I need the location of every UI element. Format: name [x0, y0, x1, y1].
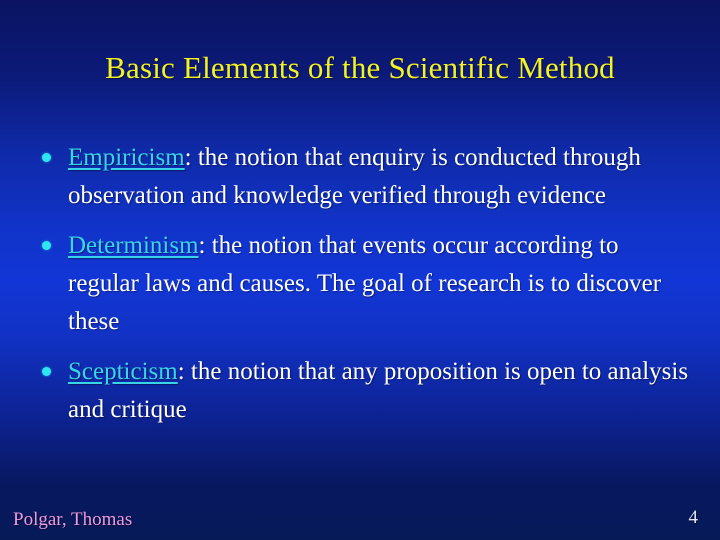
bullet-term-empiricism: Empiricism	[68, 144, 185, 171]
bullet-dot-icon	[42, 367, 51, 376]
bullet-term-scepticism: Scepticism	[68, 358, 178, 385]
bullet-list: Empiricism: the notion that enquiry is c…	[34, 139, 694, 441]
bullet-term-determinism: Determinism	[68, 232, 199, 259]
bullet-dot-icon	[42, 241, 51, 250]
bullet-dot-icon	[42, 153, 51, 162]
presentation-slide: Basic Elements of the Scientific Method …	[0, 0, 720, 540]
list-item: Scepticism: the notion that any proposit…	[34, 353, 694, 429]
page-title: Basic Elements of the Scientific Method	[48, 47, 672, 88]
list-item: Determinism: the notion that events occu…	[34, 227, 694, 341]
footer-author: Polgar, Thomas	[13, 509, 132, 531]
slide-number: 4	[689, 507, 699, 529]
list-item: Empiricism: the notion that enquiry is c…	[34, 139, 694, 215]
